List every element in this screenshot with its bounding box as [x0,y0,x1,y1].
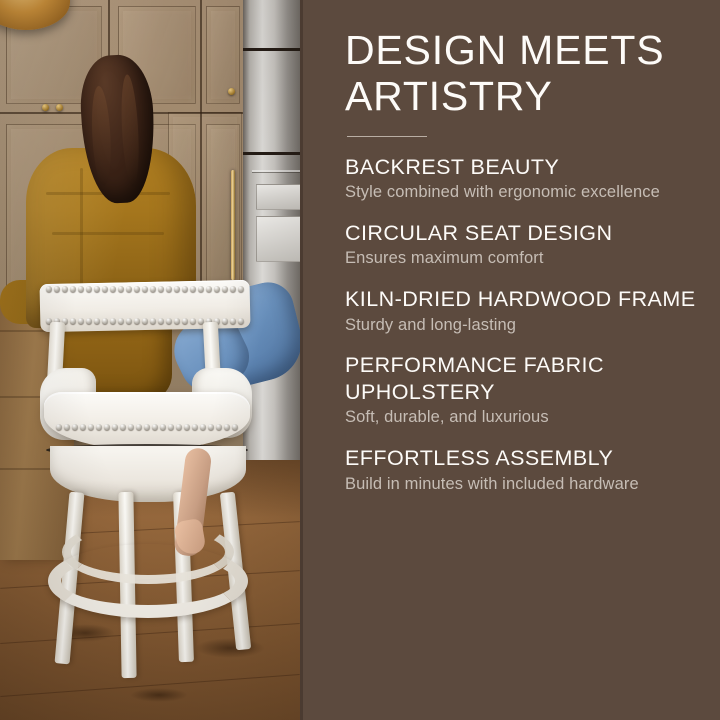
nailhead [136,424,142,430]
nailhead [102,318,108,324]
nailhead [238,286,244,292]
nailhead [184,424,190,430]
nailhead [190,286,196,292]
nailhead [128,424,134,430]
nailhead [118,286,124,292]
fridge-interior-shelf [256,184,300,210]
nailhead [224,424,230,430]
nailhead [86,286,92,292]
feature-title: CIRCULAR SEAT DESIGN [345,220,698,246]
nailhead [214,286,220,292]
nailhead [78,286,84,292]
product-lifestyle-photo [0,0,300,720]
stool-footrest-ring [48,544,248,618]
nailhead [190,318,196,324]
feature-item-backrest-beauty: BACKREST BEAUTY Style combined with ergo… [345,154,698,203]
feature-title: BACKREST BEAUTY [345,154,698,180]
floor-grain-knot [130,688,188,702]
fridge-door-gap [243,48,300,51]
nailhead [134,318,140,324]
nailhead [102,286,108,292]
nailhead [46,286,52,292]
nailhead [110,286,116,292]
nailhead [230,286,236,292]
hair-strand [90,85,113,186]
nailhead [80,424,86,430]
nailhead [160,424,166,430]
nailhead [112,424,118,430]
nailhead [232,424,238,430]
nailhead [208,424,214,430]
nailhead [182,318,188,324]
nailhead-trim-seat [56,424,242,430]
nailhead [126,286,132,292]
nailhead [158,286,164,292]
title-divider-rule [347,136,427,137]
nailhead [174,286,180,292]
feature-item-performance-fabric-upholstery: PERFORMANCE FABRIC UPHOLSTERY Soft, dura… [345,352,698,428]
nailhead [96,424,102,430]
nailhead [120,424,126,430]
cabinet-knob [42,104,49,111]
cabinet-knob [228,88,235,95]
nailhead [158,318,164,324]
nailhead [78,318,84,324]
nailhead [216,424,222,430]
nailhead [182,286,188,292]
feature-description: Ensures maximum comfort [345,248,698,269]
nailhead [206,286,212,292]
nailhead [64,424,70,430]
feature-list-panel: DESIGN MEETS ARTISTRY BACKREST BEAUTY St… [300,0,720,720]
nailhead [94,318,100,324]
feature-item-effortless-assembly: EFFORTLESS ASSEMBLY Build in minutes wit… [345,445,698,494]
nailhead [70,286,76,292]
nailhead [142,286,148,292]
feature-item-kiln-dried-hardwood-frame: KILN-DRIED HARDWOOD FRAME Sturdy and lon… [345,286,698,335]
nailhead [104,424,110,430]
nailhead [94,286,100,292]
nailhead [70,318,76,324]
nailhead [142,318,148,324]
nailhead [54,286,60,292]
hair-strand [119,74,141,187]
nailhead [200,424,206,430]
cabinet-pull-handle [231,170,235,280]
infographic-page: DESIGN MEETS ARTISTRY BACKREST BEAUTY St… [0,0,720,720]
nailhead [176,424,182,430]
cabinet-knob [56,104,63,111]
nailhead [174,318,180,324]
feature-item-circular-seat-design: CIRCULAR SEAT DESIGN Ensures maximum com… [345,220,698,269]
nailhead [222,318,228,324]
fridge-trim-line [252,170,300,172]
nailhead [86,318,92,324]
cabinet-door-panel [206,6,240,104]
feature-description: Soft, durable, and luxurious [345,407,698,428]
feature-description: Sturdy and long-lasting [345,315,698,336]
nailhead [62,286,68,292]
nailhead [152,424,158,430]
nailhead [230,318,236,324]
nailhead [88,424,94,430]
fridge-door-gap [243,152,300,155]
shirt-fold [52,232,164,235]
page-title-line-2: ARTISTRY [345,73,553,119]
feature-description: Style combined with ergonomic excellence [345,182,698,203]
nailhead [166,318,172,324]
nailhead [238,318,244,324]
nailhead [56,424,62,430]
feature-title: EFFORTLESS ASSEMBLY [345,445,698,471]
nailhead [150,318,156,324]
nailhead [72,424,78,430]
feature-title: KILN-DRIED HARDWOOD FRAME [345,286,698,312]
nailhead [150,286,156,292]
feature-description: Build in minutes with included hardware [345,474,698,495]
nailhead [168,424,174,430]
nailhead [134,286,140,292]
nailhead [192,424,198,430]
nailhead [198,286,204,292]
page-title-line-1: DESIGN MEETS [345,27,664,73]
nailhead [118,318,124,324]
nailhead-trim-backrest-top [46,286,244,292]
fridge-interior-shelf [256,216,300,262]
nailhead [166,286,172,292]
page-title: DESIGN MEETS ARTISTRY [345,28,698,120]
nailhead [222,286,228,292]
feature-title: PERFORMANCE FABRIC UPHOLSTERY [345,352,698,405]
nailhead [110,318,116,324]
panel-left-edge [300,0,303,720]
nailhead [126,318,132,324]
floor-grain-knot [195,638,265,658]
nailhead [144,424,150,430]
